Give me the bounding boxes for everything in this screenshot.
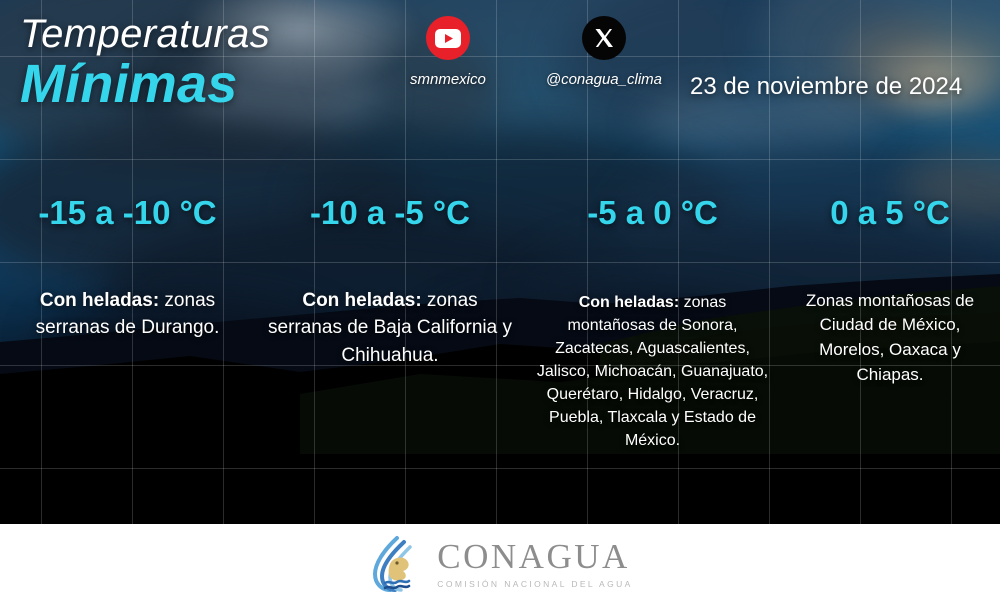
temperature-range-4: 0 a 5 °C [790, 196, 990, 231]
social-x-twitter[interactable]: @conagua_clima [546, 16, 662, 88]
temperature-description-4: Zonas montañosas de Ciudad de México, Mo… [790, 231, 990, 388]
temperature-range-2: -10 a -5 °C [265, 196, 515, 231]
description-lead-2: Con heladas: [302, 290, 421, 311]
forecast-date: 23 de noviembre de 2024 [690, 73, 962, 101]
social-label-youtube: smnmexico [410, 71, 486, 88]
temperature-range-3: -5 a 0 °C [535, 196, 770, 231]
water-drop-eagle-icon [367, 534, 423, 594]
header: Temperaturas Mínimas smnmexico [0, 0, 1000, 140]
temperature-column-4: 0 a 5 °C Zonas montañosas de Ciudad de M… [780, 196, 1000, 452]
description-lead-3: Con heladas: [579, 294, 679, 311]
temperature-columns: -15 a -10 °C Con heladas: zonas serranas… [0, 196, 1000, 452]
page-title: Temperaturas Mínimas [20, 14, 270, 111]
temperature-description-2: Con heladas: zonas serranas de Baja Cali… [265, 231, 515, 370]
temperature-column-1: -15 a -10 °C Con heladas: zonas serranas… [0, 196, 255, 452]
temperature-column-3: -5 a 0 °C Con heladas: zonas montañosas … [525, 196, 780, 452]
logo-subtitle: COMISIÓN NACIONAL DEL AGUA [437, 579, 632, 589]
x-twitter-icon[interactable] [582, 16, 626, 60]
temperature-range-1: -15 a -10 °C [10, 196, 245, 231]
logo-name: CONAGUA [437, 539, 632, 574]
social-label-x: @conagua_clima [546, 71, 662, 88]
footer: CONAGUA COMISIÓN NACIONAL DEL AGUA [0, 524, 1000, 604]
description-text-4: Zonas montañosas de Ciudad de México, Mo… [806, 291, 974, 384]
conagua-logo: CONAGUA COMISIÓN NACIONAL DEL AGUA [367, 534, 632, 594]
description-lead-1: Con heladas: [40, 290, 159, 311]
temperature-column-2: -10 a -5 °C Con heladas: zonas serranas … [255, 196, 525, 452]
weather-infographic: Temperaturas Mínimas smnmexico [0, 0, 1000, 604]
conagua-logo-text: CONAGUA COMISIÓN NACIONAL DEL AGUA [437, 539, 632, 589]
title-line-temperaturas: Temperaturas [20, 14, 270, 55]
social-youtube[interactable]: smnmexico [410, 16, 486, 88]
temperature-description-1: Con heladas: zonas serranas de Durango. [10, 231, 245, 342]
temperature-description-3: Con heladas: zonas montañosas de Sonora,… [535, 231, 770, 452]
youtube-icon[interactable] [426, 16, 470, 60]
social-links: smnmexico @conagua_clima [410, 16, 662, 88]
title-line-minimas: Mínimas [20, 57, 270, 111]
description-text-3: zonas montañosas de Sonora, Zacatecas, A… [537, 294, 768, 449]
